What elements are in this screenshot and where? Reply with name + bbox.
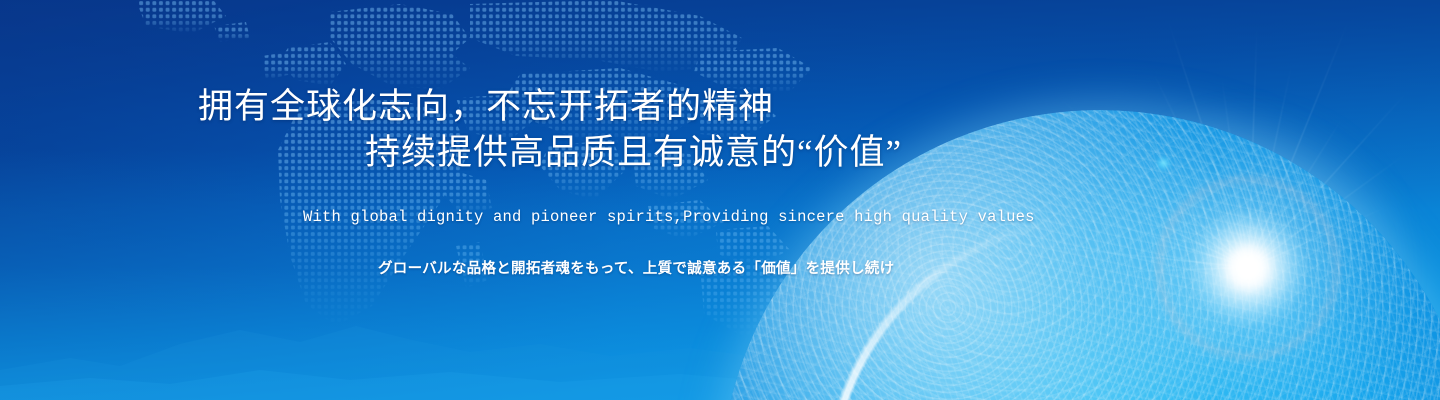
headline-line-2: 持续提供高品质且有诚意的“价值” [0,130,920,176]
subtitle-japanese: グローバルな品格と開拓者魂をもって、上質で誠意ある「価値」を提供し続け [0,259,1378,280]
headline: 拥有全球化志向，不忘开拓者的精神 持续提供高品质且有诚意的“价值” [0,84,920,176]
headline-line-1: 拥有全球化志向，不忘开拓者的精神 [0,84,920,130]
hero-banner: 拥有全球化志向，不忘开拓者的精神 持续提供高品质且有诚意的“价值” With g… [0,0,1440,400]
banner-content: 拥有全球化志向，不忘开拓者的精神 持续提供高品质且有诚意的“价值” With g… [0,0,1440,400]
subtitle-english: With global dignity and pioneer spirits,… [0,206,1303,228]
